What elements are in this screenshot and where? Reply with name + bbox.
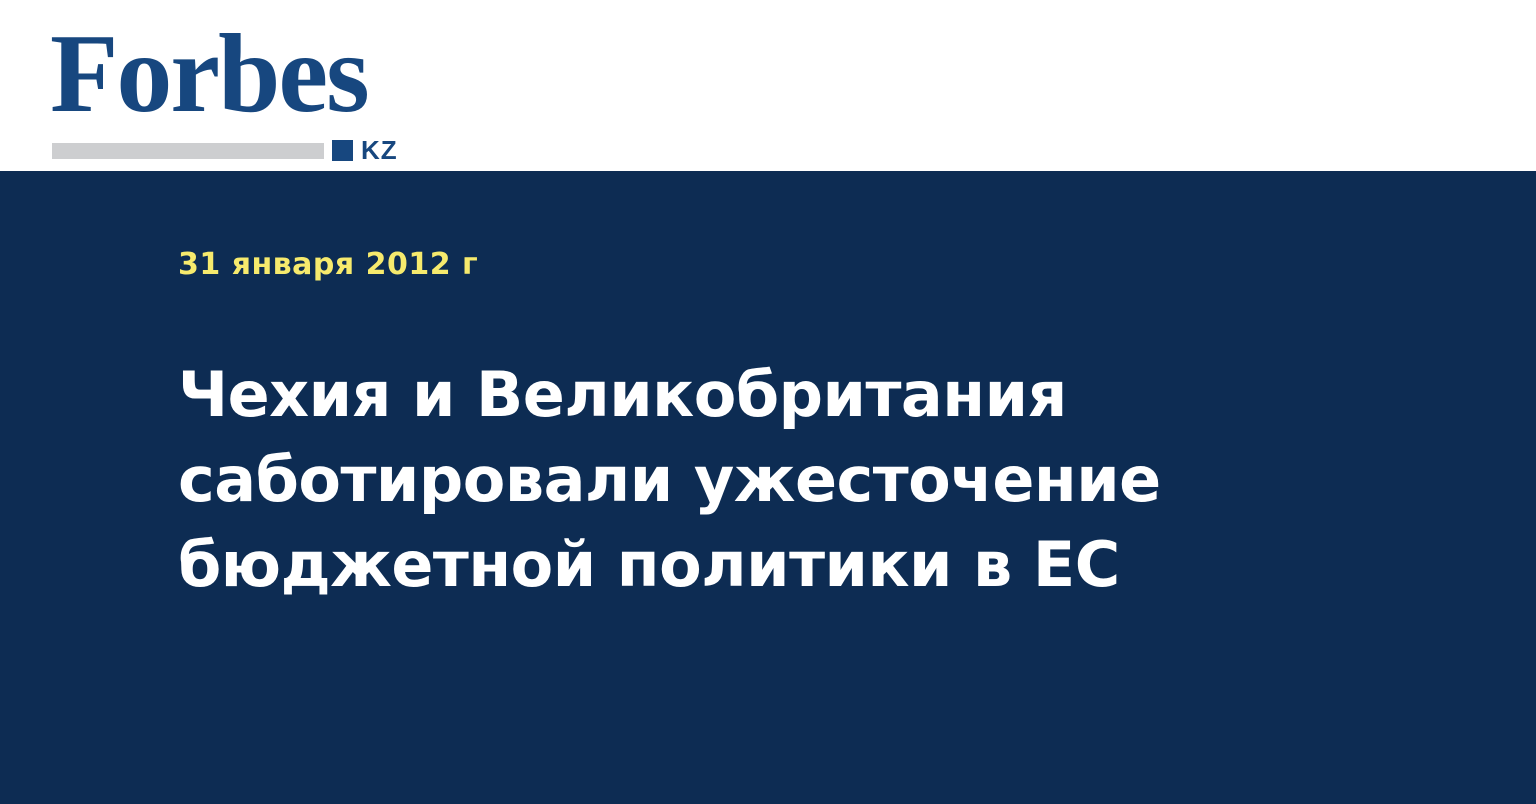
logo-rule	[52, 143, 324, 159]
blue-square-icon	[332, 140, 353, 161]
forbes-wordmark: Forbes	[50, 22, 368, 126]
forbes-kz-logo[interactable]: Forbes KZ	[50, 22, 410, 144]
site-masthead: Forbes KZ	[0, 0, 1536, 171]
logo-kz-lockup: KZ	[332, 140, 398, 161]
article-title: Чехия и Великобритания саботировали ужес…	[178, 352, 1188, 607]
article-hero: 31 января 2012 г Чехия и Великобритания …	[0, 171, 1536, 804]
article-date: 31 января 2012 г	[178, 248, 478, 282]
article-header-page: Forbes KZ 31 января 2012 г Чехия и Велик…	[0, 0, 1536, 804]
logo-kz-label: KZ	[361, 140, 398, 161]
